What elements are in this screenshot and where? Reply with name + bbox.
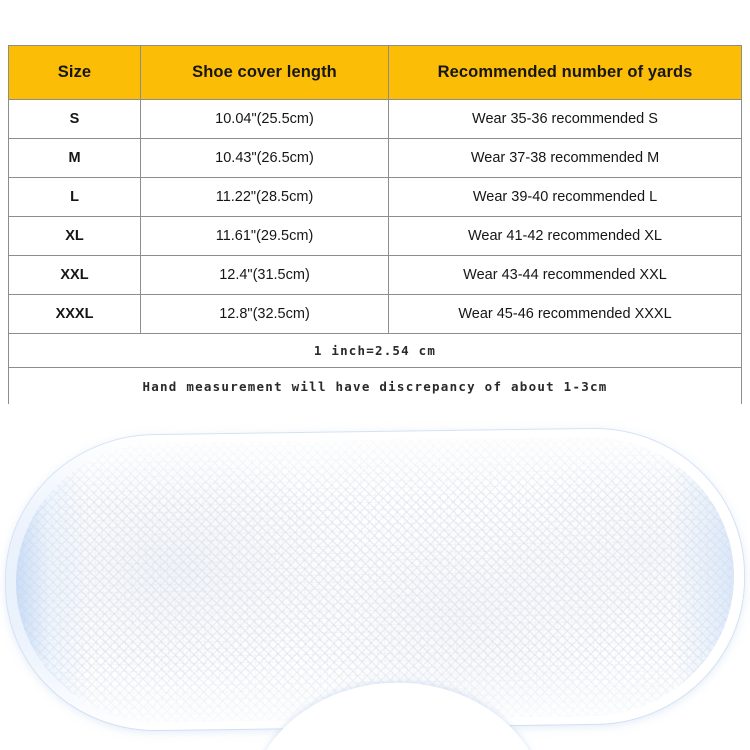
column-header-shoe-cover-length: Shoe cover length [141, 46, 389, 100]
cell-recommend: Wear 37-38 recommended M [389, 139, 742, 178]
cell-length: 10.04"(25.5cm) [141, 100, 389, 139]
column-header-size: Size [9, 46, 141, 100]
shoe-sole-tread-plate [14, 435, 736, 724]
cell-recommend: Wear 41-42 recommended XL [389, 217, 742, 256]
cell-recommend: Wear 45-46 recommended XXXL [389, 295, 742, 334]
table-body: S 10.04"(25.5cm) Wear 35-36 recommended … [9, 100, 742, 405]
note-inch-to-cm: 1 inch=2.54 cm [9, 334, 742, 368]
cell-recommend: Wear 35-36 recommended S [389, 100, 742, 139]
table-row: S 10.04"(25.5cm) Wear 35-36 recommended … [9, 100, 742, 139]
shoe-sole-photo [0, 404, 750, 750]
table-row: M 10.43"(26.5cm) Wear 37-38 recommended … [9, 139, 742, 178]
column-header-recommended-yards: Recommended number of yards [389, 46, 742, 100]
table-row: L 11.22"(28.5cm) Wear 39-40 recommended … [9, 178, 742, 217]
cell-size: XXL [9, 256, 141, 295]
cell-size: S [9, 100, 141, 139]
table-note-row-discrepancy: Hand measurement will have discrepancy o… [9, 368, 742, 405]
cell-size: L [9, 178, 141, 217]
size-chart-table: Size Shoe cover length Recommended numbe… [8, 45, 742, 405]
cell-length: 12.8"(32.5cm) [141, 295, 389, 334]
cell-size: M [9, 139, 141, 178]
shoe-sole-body [4, 427, 746, 732]
cell-size: XL [9, 217, 141, 256]
table-row: XXL 12.4"(31.5cm) Wear 43-44 recommended… [9, 256, 742, 295]
table-row: XL 11.61"(29.5cm) Wear 41-42 recommended… [9, 217, 742, 256]
shoe-sole-stage [0, 404, 750, 750]
cell-length: 11.61"(29.5cm) [141, 217, 389, 256]
cell-recommend: Wear 43-44 recommended XXL [389, 256, 742, 295]
size-chart-table-wrapper: Size Shoe cover length Recommended numbe… [8, 45, 741, 405]
cell-recommend: Wear 39-40 recommended L [389, 178, 742, 217]
table-header: Size Shoe cover length Recommended numbe… [9, 46, 742, 100]
table-header-row: Size Shoe cover length Recommended numbe… [9, 46, 742, 100]
cell-length: 11.22"(28.5cm) [141, 178, 389, 217]
table-note-row-conversion: 1 inch=2.54 cm [9, 334, 742, 368]
cell-size: XXXL [9, 295, 141, 334]
product-size-chart-page: Size Shoe cover length Recommended numbe… [0, 0, 750, 750]
shoe-sole-shading [14, 435, 736, 724]
cell-length: 12.4"(31.5cm) [141, 256, 389, 295]
table-row: XXXL 12.8"(32.5cm) Wear 45-46 recommende… [9, 295, 742, 334]
cell-length: 10.43"(26.5cm) [141, 139, 389, 178]
note-hand-measurement: Hand measurement will have discrepancy o… [9, 368, 742, 405]
